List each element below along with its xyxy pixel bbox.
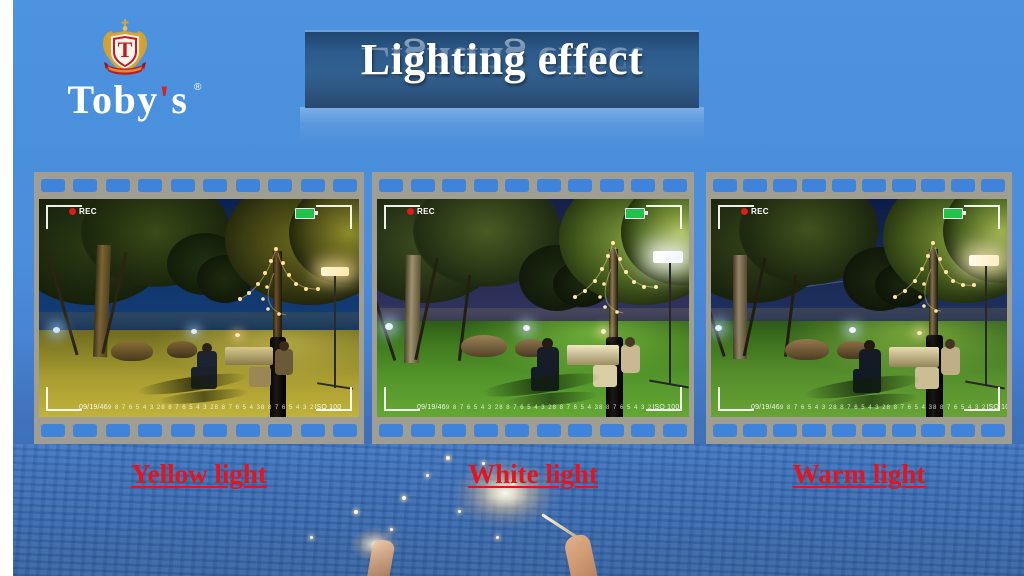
sprocket-hole (474, 424, 498, 437)
sprocket-hole (41, 424, 65, 437)
person-head (279, 341, 289, 351)
caption-white-light: White light (402, 459, 664, 490)
person-head (542, 338, 553, 349)
sprocket-hole (600, 424, 624, 437)
slide-left-margin (0, 0, 13, 576)
photo-yellow-light[interactable]: REC 09/19/46 9 8 7 6 5 4 3 2 8 8 7 6 5 4… (39, 199, 359, 417)
street-lamp (235, 333, 240, 337)
page-title-reflection: Lighting effect (305, 37, 699, 88)
sprocket-hole (892, 179, 916, 192)
sprocket-hole (600, 179, 624, 192)
sprocket-hole (631, 179, 655, 192)
sprocket-hole (713, 179, 737, 192)
boulder (167, 341, 197, 358)
caption-warm-light: Warm light (728, 459, 990, 490)
light-stand-pole (334, 276, 336, 388)
picnic-table (889, 347, 939, 367)
sprocket-hole (631, 424, 655, 437)
sprocket-hole (505, 179, 529, 192)
person-head (945, 339, 955, 349)
sprocket-hole (41, 179, 65, 192)
sprocket-hole (333, 179, 357, 192)
registered-trademark-mark: ® (194, 82, 201, 93)
night-park-scene (377, 199, 689, 417)
sprocket-hole (411, 424, 435, 437)
brand-apostrophe: ' (159, 77, 172, 122)
brand-logo: T Toby's ® (44, 18, 212, 122)
sprocket-hole (951, 424, 975, 437)
sprocket-hole (568, 179, 592, 192)
sprocket-row-top (34, 179, 364, 192)
sprocket-hole (981, 179, 1005, 192)
photo-warm-light[interactable]: REC 09/19/46 9 8 7 6 5 4 3 2 8 8 7 6 5 4… (711, 199, 1007, 417)
street-lamp (715, 325, 722, 331)
boulder (111, 341, 153, 361)
sprocket-hole (236, 179, 260, 192)
person-seated-right (275, 349, 293, 375)
person-seated-right (941, 347, 960, 375)
sprocket-hole (743, 179, 767, 192)
led-panel-light (653, 251, 683, 263)
sprocket-hole (73, 179, 97, 192)
sprocket-hole (106, 424, 130, 437)
sprocket-hole (138, 179, 162, 192)
sprocket-hole (301, 424, 325, 437)
sprocket-hole (832, 179, 856, 192)
street-lamp (53, 327, 60, 333)
sprocket-hole (171, 179, 195, 192)
sprocket-hole (379, 179, 403, 192)
svg-text:T: T (118, 37, 133, 62)
sprocket-hole (442, 179, 466, 192)
sprocket-row-bottom (706, 424, 1012, 437)
person-head (202, 343, 212, 353)
presentation-slide: T Toby's ® Lighting effect Lighting effe… (0, 0, 1024, 576)
sprocket-hole (301, 179, 325, 192)
sprocket-hole (862, 179, 886, 192)
sprocket-hole (892, 424, 916, 437)
street-lamp (601, 329, 606, 334)
sprocket-hole (713, 424, 737, 437)
sprocket-row-top (706, 179, 1012, 192)
sprocket-hole (663, 424, 687, 437)
person-head (864, 340, 875, 351)
brand-suffix: s (171, 77, 188, 122)
title-glow (300, 107, 704, 145)
brand-name: Toby (68, 77, 159, 122)
crest-icon: T (98, 18, 152, 80)
light-stand-pole (985, 266, 987, 386)
boulder (785, 339, 829, 360)
filmstrip-yellow[interactable]: REC 09/19/46 9 8 7 6 5 4 3 2 8 8 7 6 5 4… (34, 172, 364, 444)
sprocket-hole (138, 424, 162, 437)
night-park-scene (711, 199, 1007, 417)
sprocket-hole (333, 424, 357, 437)
sprocket-hole (921, 424, 945, 437)
picnic-table (225, 347, 273, 365)
led-panel-light (321, 267, 349, 276)
sprocket-hole (921, 179, 945, 192)
sprocket-hole (568, 424, 592, 437)
street-lamp (917, 331, 922, 335)
sprocket-hole (951, 179, 975, 192)
sprocket-hole (773, 424, 797, 437)
brand-wordmark: Toby's (44, 80, 212, 120)
sprocket-hole (537, 424, 561, 437)
sprocket-row-top (372, 179, 694, 192)
boulder (461, 335, 507, 357)
sprocket-hole (862, 424, 886, 437)
light-stand-pole (669, 263, 671, 385)
sprocket-hole (73, 424, 97, 437)
filmstrip-warm[interactable]: REC 09/19/46 9 8 7 6 5 4 3 2 8 8 7 6 5 4… (706, 172, 1012, 444)
sprocket-hole (379, 424, 403, 437)
street-lamp (385, 323, 393, 330)
sprocket-hole (171, 424, 195, 437)
camp-stool (249, 367, 271, 387)
sprocket-hole (802, 424, 826, 437)
person-head (625, 337, 635, 347)
person-seated-right (621, 345, 640, 373)
sprocket-hole (981, 424, 1005, 437)
sprocket-hole (743, 424, 767, 437)
sprocket-hole (663, 179, 687, 192)
street-lamp (523, 325, 530, 331)
sprocket-row-bottom (372, 424, 694, 437)
sprocket-hole (802, 179, 826, 192)
sprocket-hole (203, 424, 227, 437)
sprocket-hole (832, 424, 856, 437)
sprocket-hole (268, 424, 292, 437)
street-lamp (191, 329, 197, 334)
sprocket-hole (537, 179, 561, 192)
picnic-table (567, 345, 619, 365)
sprocket-hole (411, 179, 435, 192)
night-park-scene (39, 199, 359, 417)
sprocket-hole (474, 179, 498, 192)
sprocket-hole (773, 179, 797, 192)
title-banner: Lighting effect Lighting effect (305, 30, 699, 108)
string-lights (234, 243, 344, 353)
street-lamp (849, 327, 856, 333)
sprocket-hole (203, 179, 227, 192)
sprocket-hole (505, 424, 529, 437)
sprocket-hole (268, 179, 292, 192)
filmstrip-white[interactable]: REC 09/19/46 9 8 7 6 5 4 3 2 8 8 7 6 5 4… (372, 172, 694, 444)
led-panel-light (969, 255, 999, 266)
sprocket-row-bottom (34, 424, 364, 437)
sprocket-hole (106, 179, 130, 192)
sprocket-hole (442, 424, 466, 437)
sprocket-hole (236, 424, 260, 437)
photo-white-light[interactable]: REC 09/19/46 9 8 7 6 5 4 3 2 8 8 7 6 5 4… (377, 199, 689, 417)
caption-yellow-light: Yellow light (68, 459, 330, 490)
